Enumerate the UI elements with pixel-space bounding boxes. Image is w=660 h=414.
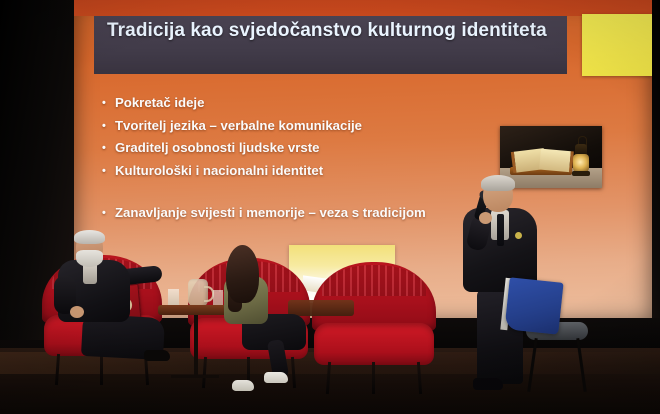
stool-leg [576, 338, 586, 392]
woman-sneaker-right [264, 372, 288, 383]
speaker-blue-folder [504, 277, 563, 334]
slide-top-strip [74, 0, 652, 16]
armchair-legs [312, 362, 436, 394]
speaker-tie [497, 214, 504, 246]
woman-long-hair [226, 245, 259, 303]
lantern-glass-icon [573, 154, 589, 172]
armchair-fluting [322, 265, 426, 296]
side-table-stem [194, 315, 198, 377]
slide-bullet-1: Pokretač ideje [102, 92, 522, 115]
man-hand [70, 306, 84, 318]
seated-woman-center [212, 248, 316, 394]
speaker-hair [481, 175, 515, 191]
lantern-base-icon [572, 171, 590, 176]
slide-yellow-accent-block [582, 14, 652, 76]
speaker-hand [479, 212, 492, 224]
speaker-lapel-badge [515, 232, 522, 239]
man-shoe [144, 350, 170, 361]
lantern-image-book-right-page [539, 149, 574, 173]
speaker-shoe [473, 378, 503, 390]
presentation-scene: Tradicija kao svjedočanstvo kulturnog id… [0, 0, 660, 414]
slide-bullet-2: Tvoritelj jezika – verbalne komunikacije [102, 115, 522, 138]
slide-bullet-3: Graditelj osobnosti ljudske vrste [102, 137, 522, 160]
seated-man-left [52, 232, 170, 392]
man-white-beard [76, 250, 103, 267]
red-armchair-right-empty [312, 262, 436, 394]
man-white-hair [74, 230, 105, 244]
woman-sneaker-left [232, 380, 254, 391]
slide-title: Tradicija kao svjedočanstvo kulturnog id… [107, 20, 567, 41]
armchair-seat [314, 323, 433, 365]
water-pitcher [188, 279, 208, 307]
standing-speaker-right [455, 178, 573, 394]
